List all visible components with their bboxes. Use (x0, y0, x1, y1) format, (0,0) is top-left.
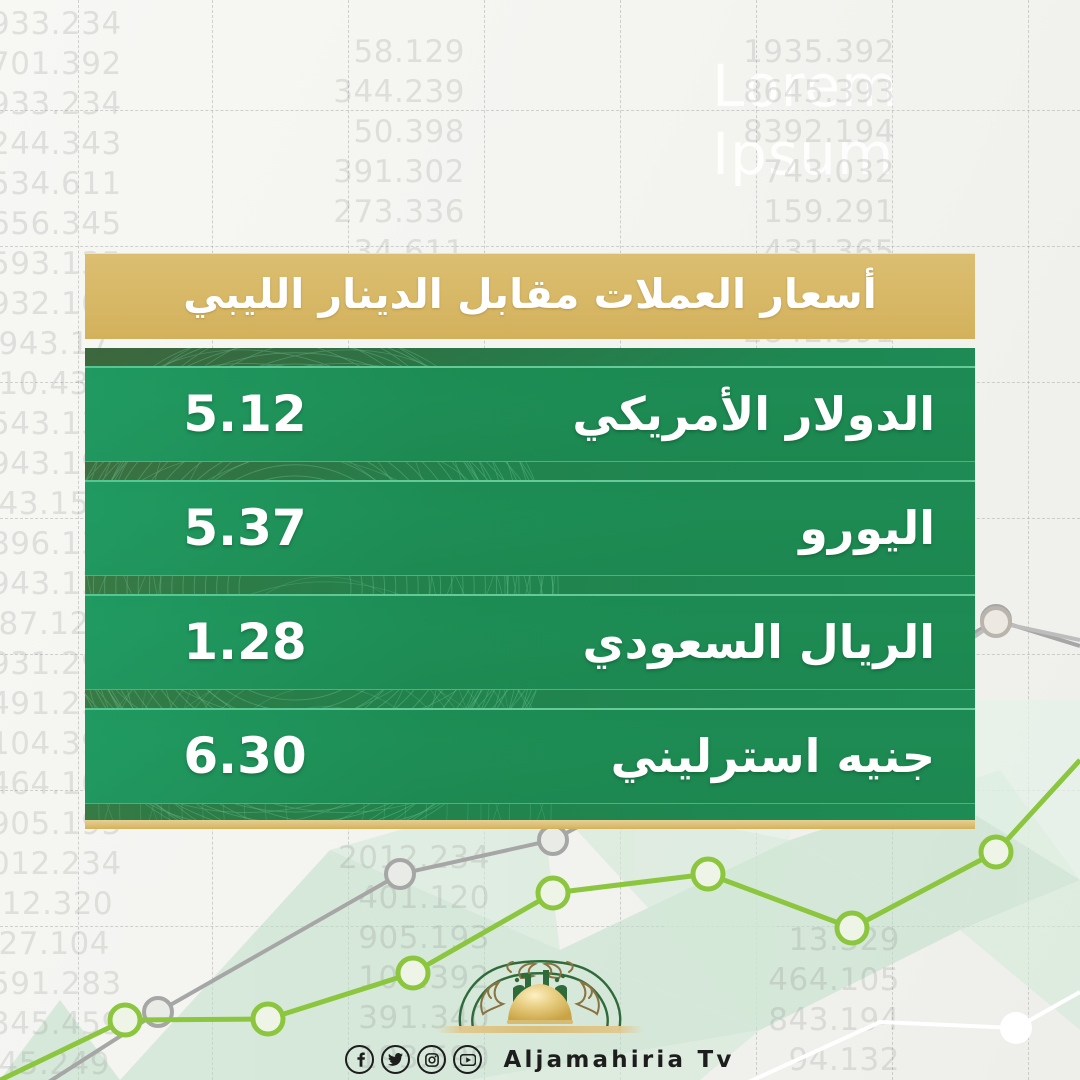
rate-value: 6.30 (85, 727, 395, 785)
currency-label: اليورو (799, 501, 975, 555)
instagram-icon[interactable] (417, 1045, 446, 1074)
rate-value: 5.37 (85, 499, 395, 557)
rate-value: 1.28 (85, 613, 395, 671)
currency-label: الريال السعودي (582, 615, 975, 669)
aljamahiria-logo-icon (425, 954, 655, 1036)
currency-label: الدولار الأمريكي (572, 387, 975, 441)
youtube-icon[interactable] (453, 1045, 482, 1074)
table-row[interactable]: 6.30 جنيه استرليني (85, 708, 975, 804)
table-row[interactable]: 5.37 اليورو (85, 480, 975, 576)
table-row[interactable]: 5.12 الدولار الأمريكي (85, 366, 975, 462)
grid-hline (0, 246, 1080, 247)
table-row[interactable]: 1.28 الريال السعودي (85, 594, 975, 690)
brand-name: Aljamahiria Tv (503, 1047, 734, 1073)
rates-rows: 5.12 الدولار الأمريكي 5.37 اليورو 1.28 ا… (85, 348, 975, 820)
infographic-canvas: Lorem Ipsum 933.234 701.392 933.234 244.… (0, 0, 1080, 1080)
social-links: Aljamahiria Tv (345, 1045, 734, 1074)
background-number-column-middle-top: 58.129 344.239 50.398 391.302 273.336 34… (330, 32, 465, 272)
rate-value: 5.12 (85, 385, 395, 443)
footer: Aljamahiria Tv (0, 954, 1080, 1074)
rates-panel: 5.12 الدولار الأمريكي 5.37 اليورو 1.28 ا… (85, 348, 975, 820)
facebook-icon[interactable] (345, 1045, 374, 1074)
rates-card: أسعار العملات مقابل الدينار الليبي (85, 253, 975, 829)
twitter-icon[interactable] (381, 1045, 410, 1074)
logo-underline-bar (437, 1026, 643, 1033)
card-gold-footer-bar (85, 820, 975, 829)
card-banner: أسعار العملات مقابل الدينار الليبي (85, 253, 975, 339)
currency-label: جنيه استرليني (611, 729, 975, 783)
page-title: أسعار العملات مقابل الدينار الليبي (183, 270, 877, 322)
